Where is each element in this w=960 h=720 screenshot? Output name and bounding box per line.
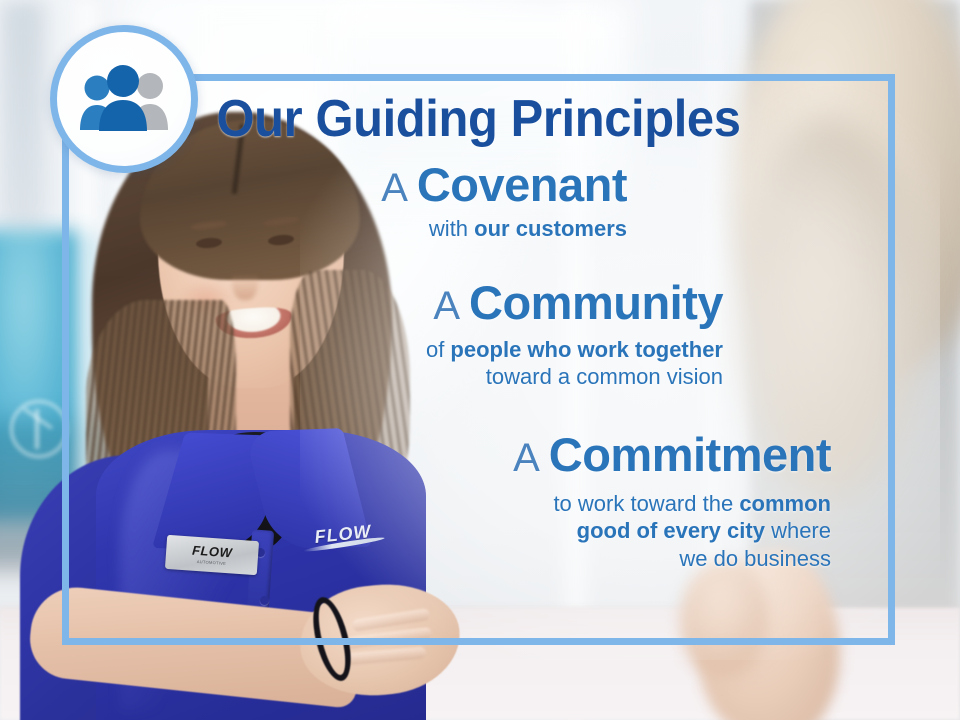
subtext-segment: where xyxy=(765,518,831,543)
principle-covenant: A Covenant with our customers xyxy=(98,161,859,243)
page-title: Our Guiding Principles xyxy=(121,92,836,147)
principle-heading: A Community xyxy=(98,279,723,328)
principle-word: Covenant xyxy=(417,158,627,211)
principle-subtext-line: with our customers xyxy=(98,215,627,243)
principle-word: Community xyxy=(469,276,723,329)
subtext-segment: to work toward the xyxy=(553,491,739,516)
principle-article: A xyxy=(381,166,417,210)
principle-article: A xyxy=(513,436,549,480)
subtext-line: to work toward the common xyxy=(553,491,831,516)
principle-word: Commitment xyxy=(549,428,831,481)
principle-commitment: A Commitment to work toward the common g… xyxy=(98,431,859,572)
principle-community: A Community of people who work together … xyxy=(98,279,859,391)
subtext-segment-bold: common xyxy=(739,491,831,516)
subtext-line: good of every city where xyxy=(577,518,831,543)
principle-subtext: of people who work together toward a com… xyxy=(98,336,723,391)
subtext-line: we do business xyxy=(679,546,831,571)
principle-article: A xyxy=(433,284,469,328)
people-group-icon xyxy=(72,64,176,134)
subtext-segment: of xyxy=(426,337,450,362)
subtext-segment-bold: good of every city xyxy=(577,518,765,543)
subtext-line: of people who work together xyxy=(426,337,723,362)
subtext-segment-bold: people who work together xyxy=(450,337,723,362)
people-badge xyxy=(50,25,198,173)
content-area: Our Guiding Principles A Covenant with o… xyxy=(62,74,895,645)
principle-heading: A Commitment xyxy=(98,431,831,480)
subtext-line: toward a common vision xyxy=(486,364,723,389)
guiding-principles-graphic: FLOW AUTOMOTIVE FLOW Our Guiding Princip… xyxy=(0,0,960,720)
subtext-segment-bold: our customers xyxy=(474,216,627,241)
principle-heading: A Covenant xyxy=(98,161,627,210)
principle-subtext: to work toward the common good of every … xyxy=(98,490,831,573)
subtext-segment: with xyxy=(429,216,474,241)
